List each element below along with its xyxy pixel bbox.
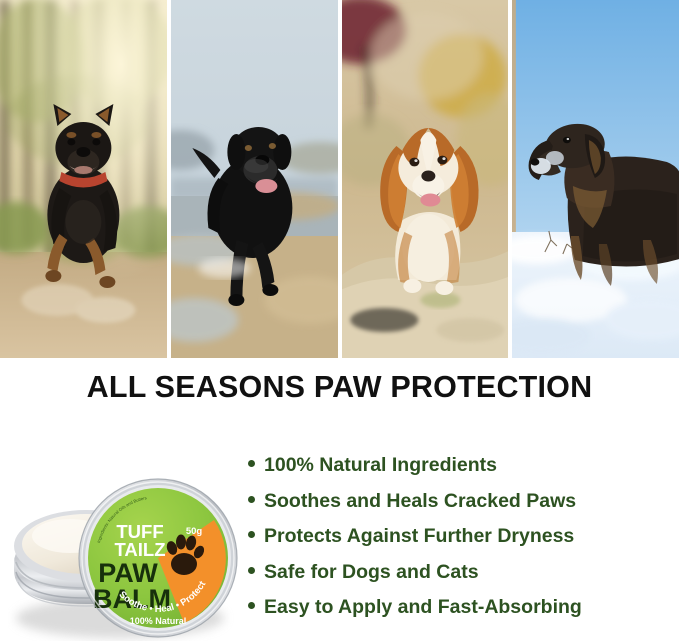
benefit-item: Safe for Dogs and Cats xyxy=(248,559,668,585)
benefit-item: Easy to Apply and Fast-Absorbing xyxy=(248,594,668,620)
bullet-dot-icon xyxy=(248,602,255,609)
page-title: ALL SEASONS PAW PROTECTION xyxy=(0,366,679,408)
photo-panel-black-labrador-beach xyxy=(171,0,338,358)
bullet-dot-icon xyxy=(248,531,255,538)
bullet-dot-icon xyxy=(248,460,255,467)
label-brand-line2: TAILZ xyxy=(114,539,165,560)
benefit-text: Easy to Apply and Fast-Absorbing xyxy=(264,594,582,620)
benefits-list: 100% Natural Ingredients Soothes and Hea… xyxy=(248,452,668,630)
label-weight: 50g xyxy=(186,526,203,537)
product-image-paw-balm-tin: Ingredients: Natural Oils and Butters TU… xyxy=(8,442,244,641)
paw-balm-product-infographic: ALL SEASONS PAW PROTECTION xyxy=(0,0,679,641)
bullet-dot-icon xyxy=(248,567,255,574)
label-claim: 100% Natural xyxy=(130,616,187,626)
benefit-text: Safe for Dogs and Cats xyxy=(264,559,479,585)
benefit-text: 100% Natural Ingredients xyxy=(264,452,497,478)
product-and-benefits-section: Ingredients: Natural Oils and Butters TU… xyxy=(0,420,679,641)
benefit-item: 100% Natural Ingredients xyxy=(248,452,668,478)
benefit-text: Protects Against Further Dryness xyxy=(264,523,574,549)
photo-strip xyxy=(0,0,679,358)
photo-panel-cavalier-spaniel-rocks xyxy=(342,0,509,358)
benefit-text: Soothes and Heals Cracked Paws xyxy=(264,488,576,514)
benefit-item: Soothes and Heals Cracked Paws xyxy=(248,488,668,514)
photo-panel-retriever-snow xyxy=(512,0,679,358)
bullet-dot-icon xyxy=(248,496,255,503)
photo-panel-rottweiler-forest xyxy=(0,0,167,358)
benefit-item: Protects Against Further Dryness xyxy=(248,523,668,549)
tin-lid: Ingredients: Natural Oils and Butters TU… xyxy=(79,479,237,637)
